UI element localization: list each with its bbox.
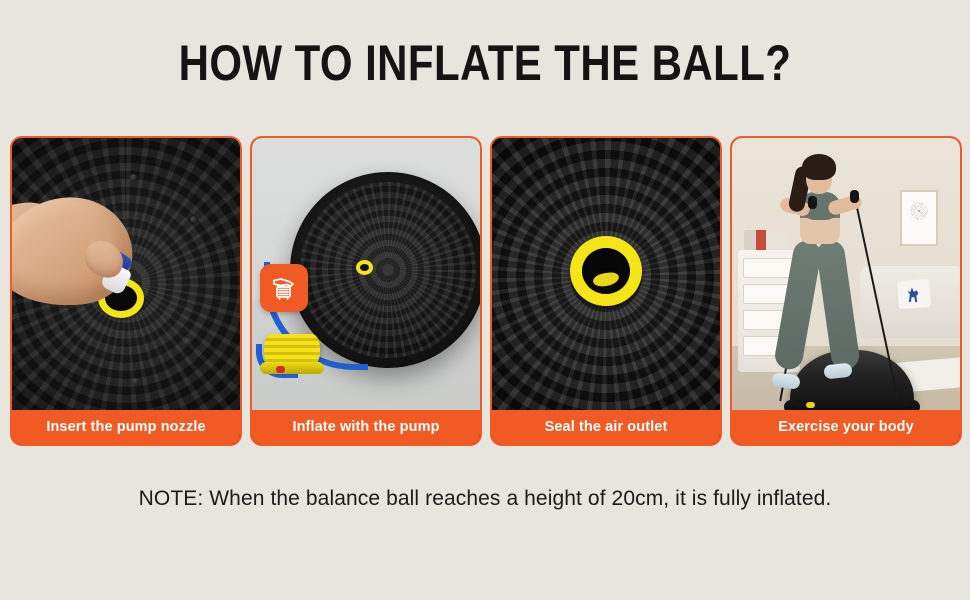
- legs: [784, 240, 858, 380]
- screw-icon: [190, 216, 197, 223]
- foot-pump-valve-red: [276, 366, 285, 373]
- exercising-woman: [762, 152, 884, 414]
- step-4-photo: [732, 138, 960, 414]
- step-card-4[interactable]: Exercise your body: [730, 136, 962, 446]
- steps-gallery: Insert the pump nozzle: [10, 136, 961, 446]
- yellow-valve-ring: [570, 236, 642, 306]
- step-card-2[interactable]: Inflate with the pump: [250, 136, 482, 446]
- hair: [802, 154, 836, 180]
- page-title: HOW TO INFLATE THE BALL?: [78, 36, 893, 90]
- footer-note: NOTE: When the balance ball reaches a he…: [0, 487, 970, 511]
- step-card-3[interactable]: Seal the air outlet: [490, 136, 722, 446]
- step-3-photo: [492, 138, 720, 414]
- step-4-caption: Exercise your body: [732, 410, 960, 444]
- screw-icon: [130, 174, 137, 181]
- step-card-1[interactable]: Insert the pump nozzle: [10, 136, 242, 446]
- foot-pump-icon: [260, 264, 308, 312]
- living-room-scene: [732, 138, 960, 414]
- band-handle: [808, 196, 817, 209]
- step-2-caption: Inflate with the pump: [252, 410, 480, 444]
- step-1-caption: Insert the pump nozzle: [12, 410, 240, 444]
- step-2-photo: [252, 138, 480, 414]
- screw-icon: [184, 338, 191, 345]
- foot-pump-base: [260, 362, 324, 374]
- band-handle: [850, 190, 859, 203]
- infographic-page: HOW TO INFLATE THE BALL? Insert the pump…: [0, 0, 970, 600]
- dandelion-artwork: [910, 202, 928, 220]
- screw-icon: [132, 378, 139, 385]
- step-3-caption: Seal the air outlet: [492, 410, 720, 444]
- step-1-photo: [12, 138, 240, 414]
